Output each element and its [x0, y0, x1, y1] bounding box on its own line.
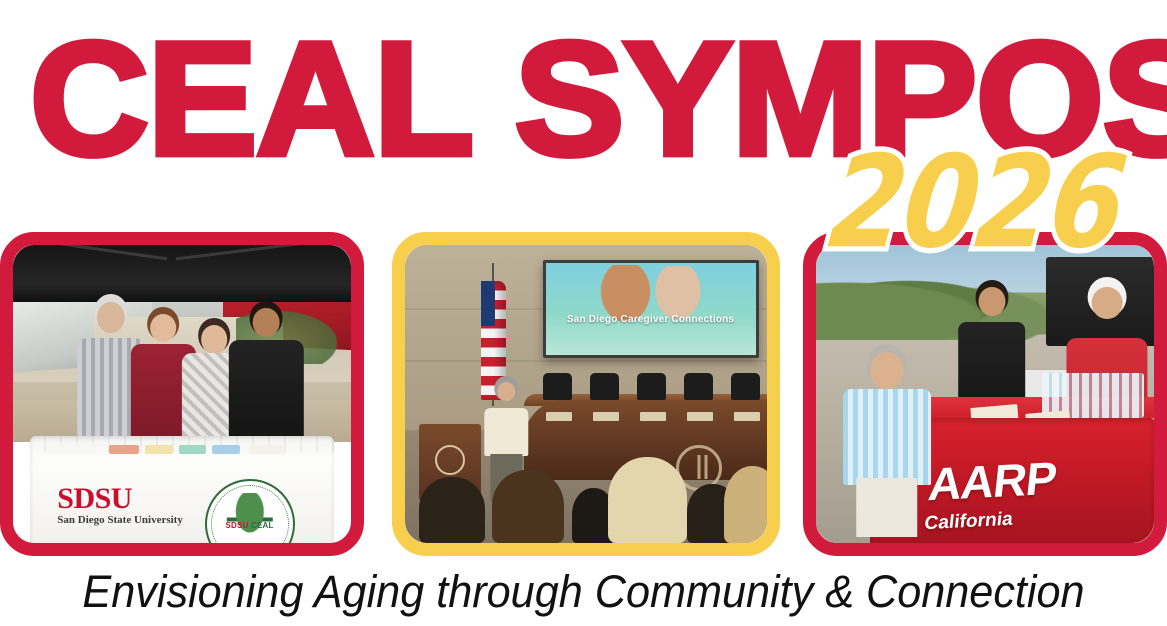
person-figure: [843, 352, 931, 537]
sdsu-table-banner: SDSU San Diego State University SDSU CEA…: [30, 436, 334, 543]
photo-council-chamber-presentation: San Diego Caregiver Connections: [405, 245, 767, 543]
photo-sdsu-outreach-table: SDSU San Diego State University SDSU CEA…: [13, 245, 351, 543]
person-figure: [229, 308, 303, 442]
sdsu-logo-text: SDSU: [57, 485, 132, 513]
year-badge: 2026: [825, 140, 1131, 267]
projector-slide-text: San Diego Caregiver Connections: [554, 314, 747, 325]
black-canopy-roof: [13, 245, 351, 302]
photo-aarp-booth: AARP California: [816, 245, 1154, 543]
projector-screen: San Diego Caregiver Connections: [543, 260, 759, 358]
audience-row: [405, 454, 767, 543]
seal-label-ceal: CEAL: [251, 521, 274, 530]
photo-card-middle[interactable]: San Diego Caregiver Connections: [392, 232, 780, 556]
sdsu-logo-subtext: San Diego State University: [57, 514, 183, 526]
ceal-seal-icon: SDSU CEAL: [205, 479, 295, 543]
photo-card-left[interactable]: SDSU San Diego State University SDSU CEA…: [0, 232, 364, 556]
photo-gallery: SDSU San Diego State University SDSU CEA…: [0, 232, 1167, 556]
tree-icon: [226, 493, 272, 543]
aarp-logo-text: AARP California: [922, 457, 1058, 543]
photo-card-right[interactable]: AARP California: [803, 232, 1167, 556]
seal-label-sdsu: SDSU: [226, 521, 249, 530]
page-subtitle: Envisioning Aging through Community & Co…: [23, 566, 1143, 618]
